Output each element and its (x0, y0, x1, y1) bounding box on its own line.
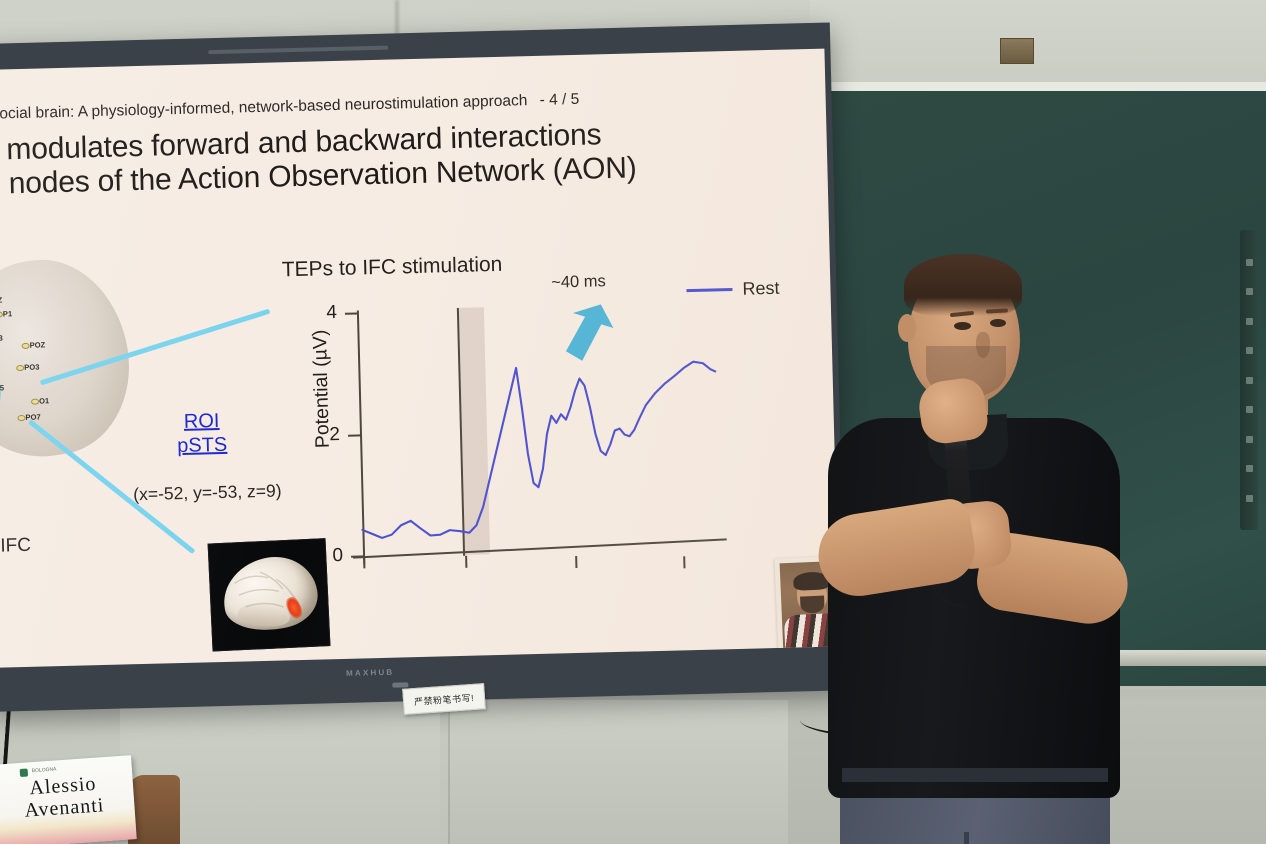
roi-label-line-1: ROI (184, 410, 220, 433)
tep-line-chart: Potential (µV) 0 2 4 -50 (305, 295, 742, 596)
slide-number: - 4 / 5 (539, 91, 579, 109)
rail-icon-settings (1246, 465, 1253, 472)
board-side-rail[interactable] (1240, 230, 1258, 530)
electrode-O1: O1 (39, 396, 49, 405)
university-logo-icon (20, 768, 29, 777)
cabinet-right (448, 700, 788, 844)
bezel-speaker-slot (208, 46, 388, 55)
presenter-ear (898, 314, 916, 342)
electrode-labels: CPZ CP1 PZ P1 P3 POZ PO3 P5 O1 PO7 T5 TP… (0, 244, 149, 250)
cyan-arrow-icon (547, 298, 621, 374)
rail-icon-square (1246, 318, 1253, 325)
slide-citation: Chiappini, Turrini, Pirruccio, Fiori, Za… (268, 647, 808, 667)
running-head-text: the social brain: A physiology-informed,… (0, 92, 528, 123)
chart-title: TEPs to IFC stimulation (282, 253, 503, 283)
rail-icon-shape (1246, 406, 1253, 413)
wall-mounted-box (1000, 38, 1034, 64)
chart-legend: Rest (686, 278, 780, 301)
presenter-eye-right (990, 319, 1006, 327)
presentation-slide: the social brain: A physiology-informed,… (0, 49, 840, 668)
stimulation-site-label: ver IFC (0, 535, 31, 559)
electrode-P3: P3 (0, 333, 3, 342)
name-card: BOLOGNA Alessio Avenanti (0, 755, 137, 844)
eeg-head-diagram: CPZ CP1 PZ P1 P3 POZ PO3 P5 O1 PO7 T5 TP… (0, 244, 155, 479)
name-card-text: Alessio Avenanti (0, 771, 135, 824)
legend-label-rest: Rest (742, 278, 780, 300)
electrode-P5: P5 (0, 383, 4, 392)
rail-icon-grid (1246, 436, 1253, 443)
display-screen[interactable]: the social brain: A physiology-informed,… (0, 49, 840, 668)
display-brand-label: MAXHUB (346, 668, 395, 678)
lecture-scene: MAXHUB the social brain: A physiology-in… (0, 0, 1266, 844)
name-card-last-name: Avenanti (24, 794, 105, 822)
rail-icon-eraser (1246, 377, 1253, 384)
legend-swatch-rest (686, 288, 732, 292)
electrode-POZ: POZ (30, 340, 46, 349)
roi-label-line-2: pSTS (177, 434, 228, 457)
roi-coordinates: (x=-52, y=-53, z=9) (87, 479, 327, 506)
electrode-PO3: PO3 (24, 363, 39, 372)
presenter (800, 240, 1160, 844)
latency-annotation: ~40 ms (551, 272, 606, 292)
roi-label: ROI pSTS (141, 408, 262, 460)
university-logo-text: BOLOGNA (32, 766, 57, 774)
chalk-warning-text: 严禁粉笔书写! (414, 690, 475, 707)
rail-icon-up (1246, 259, 1253, 266)
display-power-led (392, 682, 408, 687)
presenter-leg-seam (964, 832, 969, 844)
presenter-waistline (842, 768, 1108, 782)
presenter-eye-left (954, 322, 971, 330)
electrode-PZ: PZ (0, 295, 2, 304)
rail-icon-pen (1246, 347, 1253, 354)
page-title: AS modulates forward and backward intera… (0, 114, 780, 202)
rail-icon-menu (1246, 288, 1253, 295)
presenter-hair (904, 254, 1022, 316)
electrode-P1: P1 (3, 309, 13, 318)
rail-icon-more (1246, 495, 1253, 502)
interactive-flat-panel-display[interactable]: MAXHUB the social brain: A physiology-in… (0, 22, 847, 711)
tep-waveform-rest (305, 295, 742, 596)
